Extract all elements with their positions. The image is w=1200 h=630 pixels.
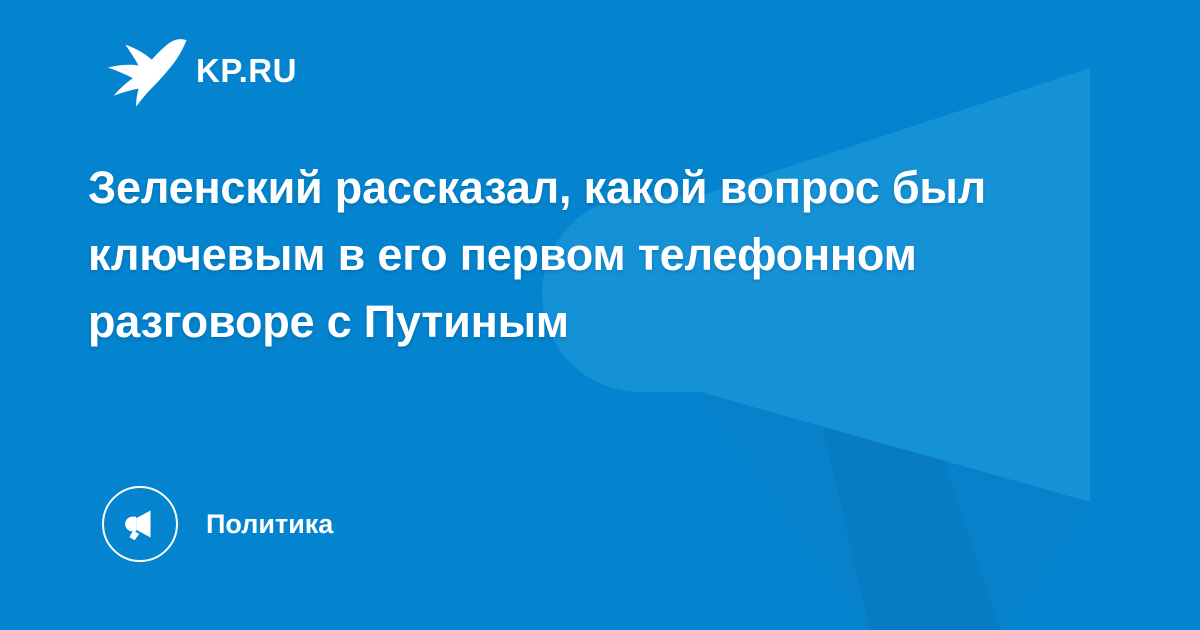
megaphone-icon: [102, 486, 178, 562]
page-title: Зеленский рассказал, какой вопрос был кл…: [88, 154, 1028, 355]
brand-logo[interactable]: KP.RU: [104, 34, 297, 106]
swallow-bird-icon: [104, 33, 188, 107]
megaphone-watermark-shadow: [700, 392, 1090, 630]
brand-name: KP.RU: [196, 54, 297, 87]
article-share-card: KP.RU Зеленский рассказал, какой вопрос …: [0, 0, 1200, 630]
category-tag[interactable]: Политика: [102, 485, 333, 563]
megaphone-watermark-handle: [800, 330, 1000, 630]
category-label: Политика: [206, 511, 333, 538]
